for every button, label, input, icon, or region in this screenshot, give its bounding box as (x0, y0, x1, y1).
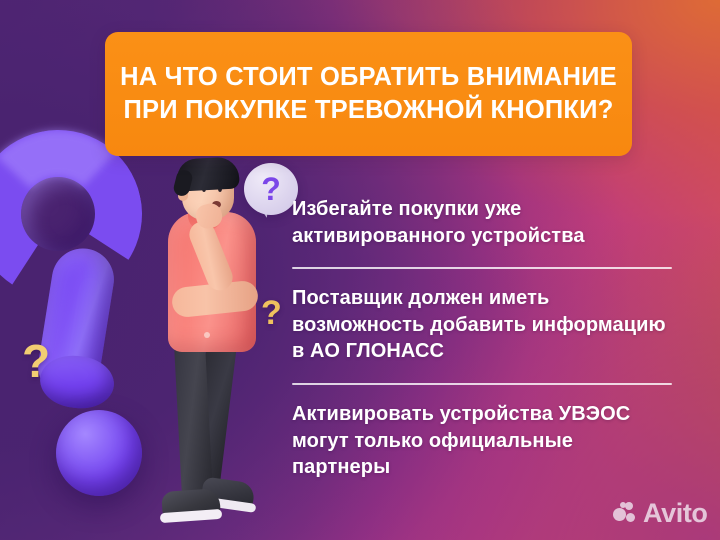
headline-panel: НА ЧТО СТОИТ ОБРАТИТЬ ВНИМАНИЕ ПРИ ПОКУП… (105, 32, 632, 156)
promo-poster: ? ? ? НА ЧТО СТОИТ ОБРАТИТЬ ВНИМАНИЕ ПРИ (0, 0, 720, 540)
avito-wordmark: Avito (643, 500, 708, 527)
headline-title: НА ЧТО СТОИТ ОБРАТИТЬ ВНИМАНИЕ ПРИ ПОКУП… (105, 61, 632, 128)
avito-dot-large (613, 508, 626, 521)
shirt-button-shape (204, 332, 210, 338)
list-divider (292, 267, 672, 269)
list-item: Активировать устройства УВЭОС могут толь… (292, 401, 674, 481)
speech-bubble-question-mark-icon: ? (244, 163, 298, 215)
list-divider (292, 383, 672, 385)
list-item: Избегайте покупки уже активированного ус… (292, 196, 674, 249)
advice-list: Избегайте покупки уже активированного ус… (292, 196, 674, 481)
question-mark-dot-icon (56, 410, 142, 496)
avito-dot-small-top (625, 502, 633, 510)
avito-watermark: Avito (613, 500, 708, 527)
speech-bubble-icon: ? (244, 163, 298, 215)
list-item: Поставщик должен иметь возможность добав… (292, 285, 674, 365)
small-gold-question-mark-left-icon: ? (22, 338, 50, 384)
avito-dot-small-bottom (626, 513, 635, 522)
avito-dots-icon (613, 502, 639, 526)
